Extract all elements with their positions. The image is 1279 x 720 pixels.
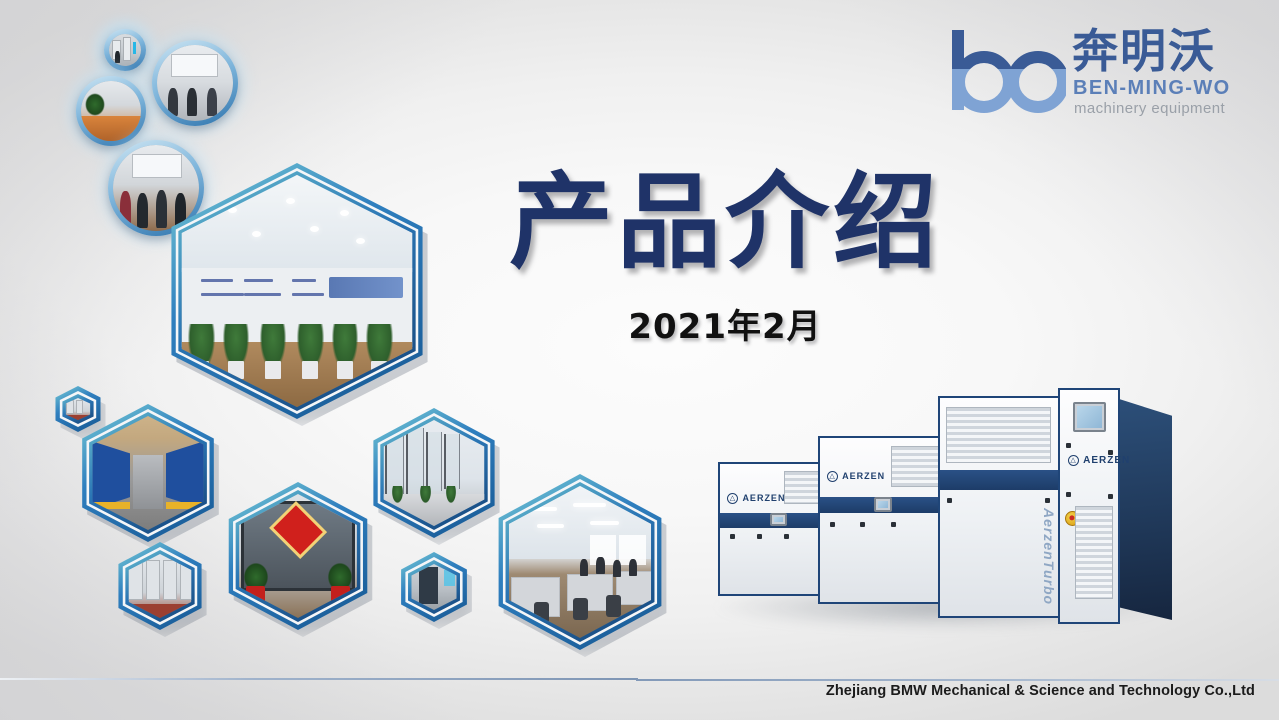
unit-face: AerzenTurbo [938,396,1064,618]
aerzen-logo-icon: △ [1068,455,1079,466]
unit-air-grill [946,407,1051,464]
footer-divider-left [0,678,638,680]
photo-hexagon-company-lobby-reception [152,163,442,419]
page-subtitle: 2021年2月 [455,299,995,348]
footer-company-name: Zhejiang BMW Mechanical & Science and Te… [826,683,1255,699]
title-block: 产品介绍 2021年2月 [455,168,995,348]
unit-brand-label: AERZEN [842,471,885,481]
aerzen-logo-icon: △ [727,493,738,504]
hexagon-photo [164,175,430,407]
page-title: 产品介绍 [455,168,995,277]
photo-hexagon-factory-blue-corridor [72,404,224,542]
footer-divider-right [636,679,1279,681]
logo-tagline: machinery equipment [1074,101,1225,116]
unit-hmi-panel[interactable] [874,497,892,512]
unit-lower-grill [1075,506,1113,599]
aerzen-logo-icon: △ [827,471,838,482]
unit-hmi-panel[interactable] [770,513,787,526]
circle-photo [157,45,233,121]
unit-touch-display[interactable] [1073,402,1107,432]
photo-circle-office-meeting-room [152,40,238,126]
unit-model-label: AerzenTurbo [1041,508,1057,605]
company-logo[interactable]: 奔明沃 BEN-MING-WO machinery equipment [948,22,1248,130]
photo-hexagon-open-plan-office [486,474,674,650]
logo-english-name: BEN-MING-WO [1073,78,1231,98]
photo-hexagon-glass-partition-corridor [364,408,504,538]
logo-chinese-name: 奔明沃 [1072,28,1216,74]
unit-brand-aerzen: △ AERZEN [727,493,785,504]
unit-brand-aerzen: △ AERZEN [1068,455,1130,466]
footer-divider [0,678,1279,681]
machine-unit-aerzen-turbo: AerzenTurbo △ AERZEN [938,382,1168,630]
photo-hexagon-new-year-entrance-lanterns [218,482,378,630]
unit-band [940,470,1062,490]
unit-control-face: △ AERZEN [1058,388,1120,624]
photo-hexagon-door-entry-small [396,552,472,622]
bo-monogram-icon [948,26,1066,114]
presentation-slide: △ AERZEN Delta Blower △ AERZEN [0,0,1279,720]
photo-hexagon-server-room-small [112,542,208,630]
product-machine-lineup: △ AERZEN Delta Blower △ AERZEN [700,372,1200,662]
unit-side-panel [1116,398,1172,620]
unit-brand-label: AERZEN [742,493,785,503]
unit-brand-label: AERZEN [1083,455,1130,466]
unit-brand-aerzen: △ AERZEN [827,471,885,482]
